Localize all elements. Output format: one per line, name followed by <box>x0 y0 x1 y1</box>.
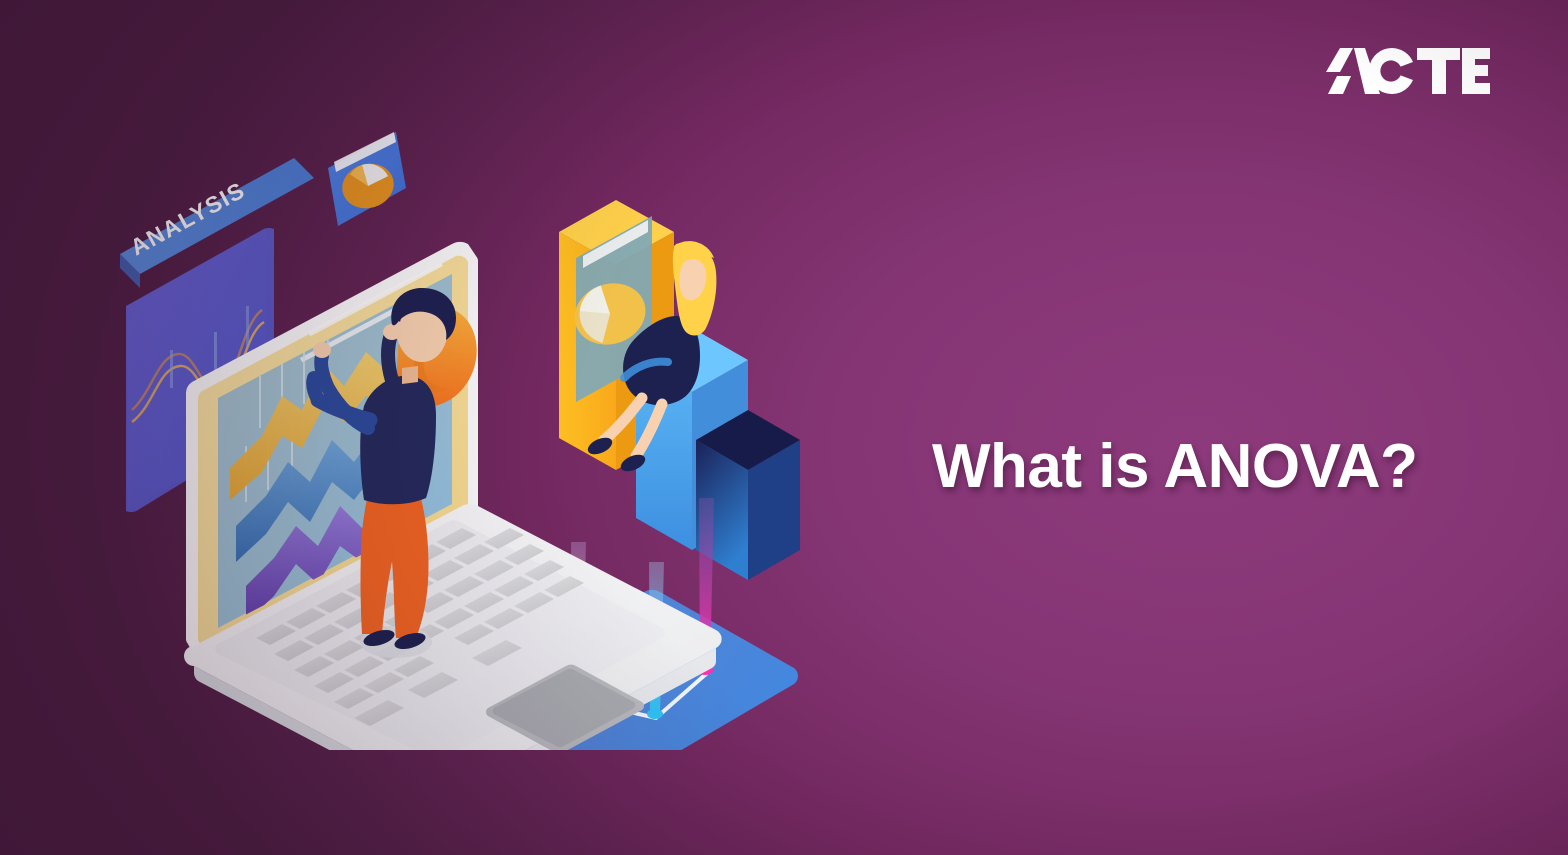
acte-wordmark-icon <box>1326 48 1490 94</box>
page-title: What is ANOVA? <box>932 434 1418 499</box>
illustration-container: ANALYSIS <box>96 110 836 750</box>
pie-chart-card <box>328 132 406 226</box>
banner-root: ANALYSIS <box>0 0 1568 855</box>
acte-logo[interactable] <box>1318 42 1490 100</box>
